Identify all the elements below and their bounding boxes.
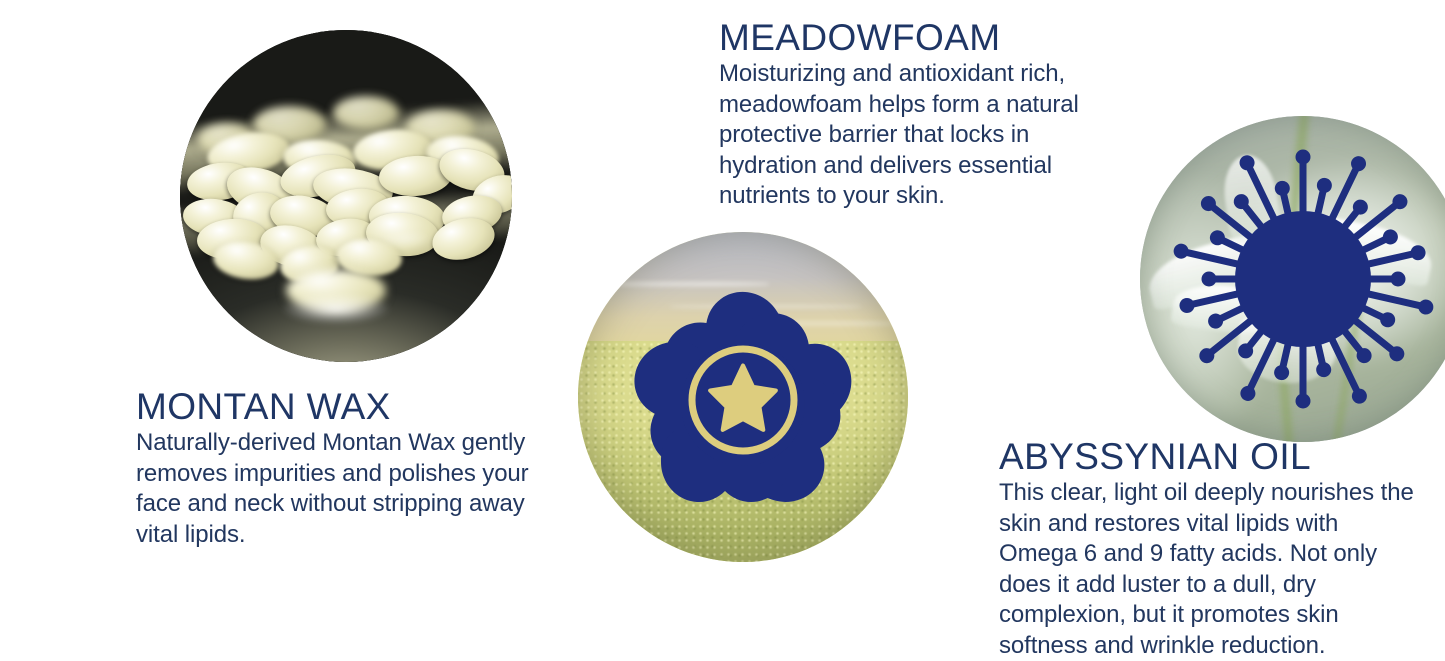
- meadowfoam-heading: MEADOWFOAM: [719, 17, 1119, 59]
- meadowfoam-image: [578, 232, 908, 562]
- abyssynian-oil-heading: ABYSSYNIAN OIL: [999, 436, 1419, 478]
- montan-wax-heading: MONTAN WAX: [136, 386, 556, 428]
- meadowfoam-description: Moisturizing and antioxidant rich, meado…: [719, 59, 1119, 212]
- abyssynian-oil-image: [1140, 116, 1445, 442]
- montan-wax-image: [180, 30, 512, 362]
- abyssynian-oil-description: This clear, light oil deeply nourishes t…: [999, 478, 1419, 661]
- meadowfoam-flower-mark: [578, 232, 908, 562]
- wax-pellets-photo: [180, 30, 512, 362]
- meadowfoam-text-block: MEADOWFOAM Moisturizing and antioxidant …: [719, 17, 1119, 212]
- abyssynian-oil-text-block: ABYSSYNIAN OIL This clear, light oil dee…: [999, 436, 1419, 661]
- ingredient-infographic: MONTAN WAX Naturally-derived Montan Wax …: [0, 0, 1445, 650]
- montan-wax-description: Naturally-derived Montan Wax gently remo…: [136, 428, 556, 550]
- abyssynian-sunburst-mark: [1140, 116, 1445, 442]
- montan-wax-text-block: MONTAN WAX Naturally-derived Montan Wax …: [136, 386, 556, 550]
